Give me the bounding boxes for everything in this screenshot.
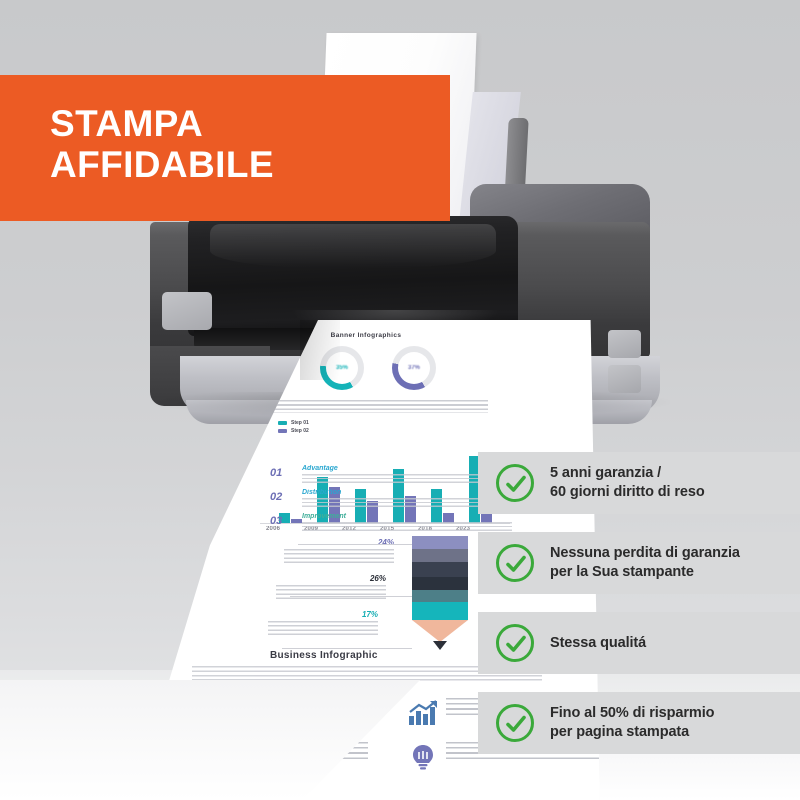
check-mark-icon bbox=[504, 552, 528, 576]
legend-label-step-01: Step 01 bbox=[291, 420, 309, 426]
check-mark-icon bbox=[504, 472, 528, 496]
list-number: 01 bbox=[270, 467, 282, 479]
funnel-connector-line bbox=[290, 596, 412, 597]
pencil-segment-2 bbox=[412, 549, 468, 562]
growth-chart-icon bbox=[408, 700, 438, 726]
panel-button-right-1[interactable] bbox=[608, 330, 641, 358]
feature-item-1: 5 anni garanzia / 60 giorni diritto di r… bbox=[478, 452, 800, 514]
funnel-percent: 17% bbox=[268, 610, 378, 619]
check-mark-icon bbox=[504, 632, 528, 656]
check-circle-icon bbox=[496, 544, 534, 582]
donut-chart-group: 35% 37% bbox=[320, 346, 470, 388]
pencil-segment-3 bbox=[412, 562, 468, 577]
check-circle-icon bbox=[496, 624, 534, 662]
list-number: 03 bbox=[270, 515, 282, 527]
headline-banner: STAMPA AFFIDABILE bbox=[0, 75, 450, 221]
funnel-chart: 24%26%17% bbox=[176, 536, 496, 656]
feature-list: 5 anni garanzia / 60 giorni diritto di r… bbox=[478, 452, 800, 772]
feature-item-3: Stessa qualitá bbox=[478, 612, 800, 674]
funnel-connector-line bbox=[282, 648, 412, 649]
donut-hole-2: 37% bbox=[398, 352, 430, 384]
pencil-segment-5 bbox=[412, 590, 468, 602]
panel-button-left[interactable] bbox=[162, 292, 212, 330]
donut-chart-2: 37% bbox=[392, 346, 436, 390]
panel-button-right-2[interactable] bbox=[608, 365, 641, 393]
legend-item: Step 01 bbox=[278, 420, 309, 426]
funnel-stat-3: 17% bbox=[268, 610, 378, 635]
list-number: 02 bbox=[270, 491, 282, 503]
bar-chart-legend: Step 01 Step 02 bbox=[278, 420, 309, 436]
poster-canvas: Banner Infographics 35% 37% bbox=[0, 0, 800, 800]
legend-swatch-step-01 bbox=[278, 421, 287, 425]
funnel-connector-line bbox=[298, 544, 412, 545]
pencil-segment-1 bbox=[412, 536, 468, 549]
check-mark-icon bbox=[504, 712, 528, 736]
check-circle-icon bbox=[496, 464, 534, 502]
donut-value-2: 37% bbox=[408, 365, 420, 371]
feature-label-3: Stessa qualitá bbox=[550, 634, 646, 653]
funnel-stat-1: 24% bbox=[284, 538, 394, 563]
pencil-tip bbox=[412, 620, 468, 642]
list-title: Distribution bbox=[302, 489, 341, 496]
funnel-percent: 26% bbox=[276, 574, 386, 583]
feature-label-1: 5 anni garanzia / 60 giorni diritto di r… bbox=[550, 464, 705, 501]
page-curl-shadow bbox=[300, 320, 340, 380]
list-title: Advantage bbox=[302, 465, 338, 472]
pencil-segment-6 bbox=[412, 602, 468, 620]
legend-label-step-02: Step 02 bbox=[291, 428, 309, 434]
list-title: Improvement bbox=[302, 513, 346, 520]
pencil-funnel-graphic bbox=[412, 536, 468, 642]
lightbulb-icon bbox=[408, 744, 438, 770]
legend-swatch-step-02 bbox=[278, 429, 287, 433]
legend-item: Step 02 bbox=[278, 428, 309, 434]
feature-item-2: Nessuna perdita di garanzia per la Sua s… bbox=[478, 532, 800, 594]
pencil-segment-4 bbox=[412, 577, 468, 590]
pencil-lead bbox=[433, 641, 447, 650]
headline-text: STAMPA AFFIDABILE bbox=[50, 103, 274, 186]
check-circle-icon bbox=[496, 704, 534, 742]
printer-lid-highlight bbox=[210, 224, 496, 268]
feature-label-2: Nessuna perdita di garanzia per la Sua s… bbox=[550, 544, 740, 581]
funnel-caption bbox=[268, 621, 378, 635]
funnel-caption bbox=[284, 549, 394, 563]
feature-label-4: Fino al 50% di risparmio per pagina stam… bbox=[550, 704, 714, 741]
feature-item-4: Fino al 50% di risparmio per pagina stam… bbox=[478, 692, 800, 754]
funnel-percent: 24% bbox=[284, 538, 394, 547]
